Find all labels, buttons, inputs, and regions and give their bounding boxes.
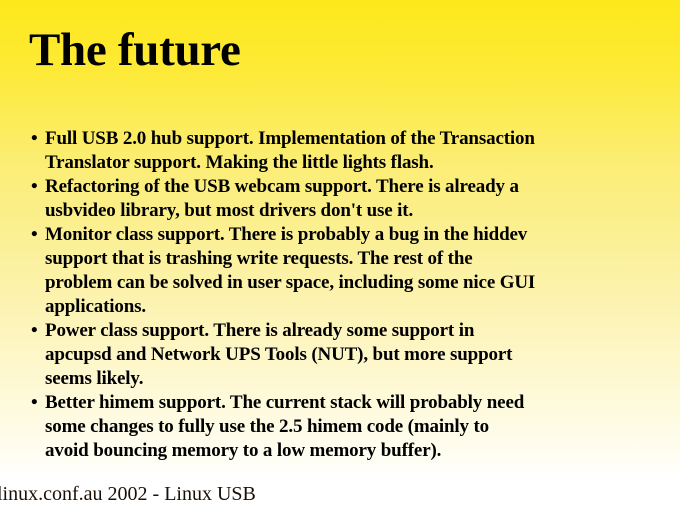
list-item: •Full USB 2.0 hub support. Implementatio… — [30, 127, 666, 175]
list-item-text: Better himem support. The current stack … — [45, 391, 666, 463]
list-item-line: applications. — [45, 295, 666, 319]
list-item-line: avoid bouncing memory to a low memory bu… — [45, 439, 666, 463]
list-item-line: Translator support. Making the little li… — [45, 151, 666, 175]
list-item-line: seems likely. — [45, 367, 666, 391]
list-item-line: some changes to fully use the 2.5 himem … — [45, 415, 666, 439]
bullet-point-icon: • — [31, 391, 43, 415]
presentation-slide: The future •Full USB 2.0 hub support. Im… — [0, 0, 680, 510]
list-item-line: usbvideo library, but most drivers don't… — [45, 199, 666, 223]
list-item-line: Refactoring of the USB webcam support. T… — [45, 175, 666, 199]
list-item: •Monitor class support. There is probabl… — [30, 223, 666, 319]
list-item: •Better himem support. The current stack… — [30, 391, 666, 463]
list-item-text: Monitor class support. There is probably… — [45, 223, 666, 319]
list-item-line: apcupsd and Network UPS Tools (NUT), but… — [45, 343, 666, 367]
bullet-point-icon: • — [31, 223, 43, 247]
page-title: The future — [29, 22, 241, 78]
list-item-line: Monitor class support. There is probably… — [45, 223, 666, 247]
list-item: •Power class support. There is already s… — [30, 319, 666, 391]
bullet-point-icon: • — [31, 127, 43, 151]
footer-label: linux.conf.au 2002 - Linux USB — [0, 482, 256, 506]
list-item-line: support that is trashing write requests.… — [45, 247, 666, 271]
list-item-line: Better himem support. The current stack … — [45, 391, 666, 415]
list-item-text: Power class support. There is already so… — [45, 319, 666, 391]
list-item-text: Full USB 2.0 hub support. Implementation… — [45, 127, 666, 175]
list-item-line: problem can be solved in user space, inc… — [45, 271, 666, 295]
list-item-line: Power class support. There is already so… — [45, 319, 666, 343]
bullet-point-icon: • — [31, 319, 43, 343]
list-item-line: Full USB 2.0 hub support. Implementation… — [45, 127, 666, 151]
bullet-point-icon: • — [31, 175, 43, 199]
list-item-text: Refactoring of the USB webcam support. T… — [45, 175, 666, 223]
bullet-list: •Full USB 2.0 hub support. Implementatio… — [30, 127, 666, 463]
list-item: •Refactoring of the USB webcam support. … — [30, 175, 666, 223]
